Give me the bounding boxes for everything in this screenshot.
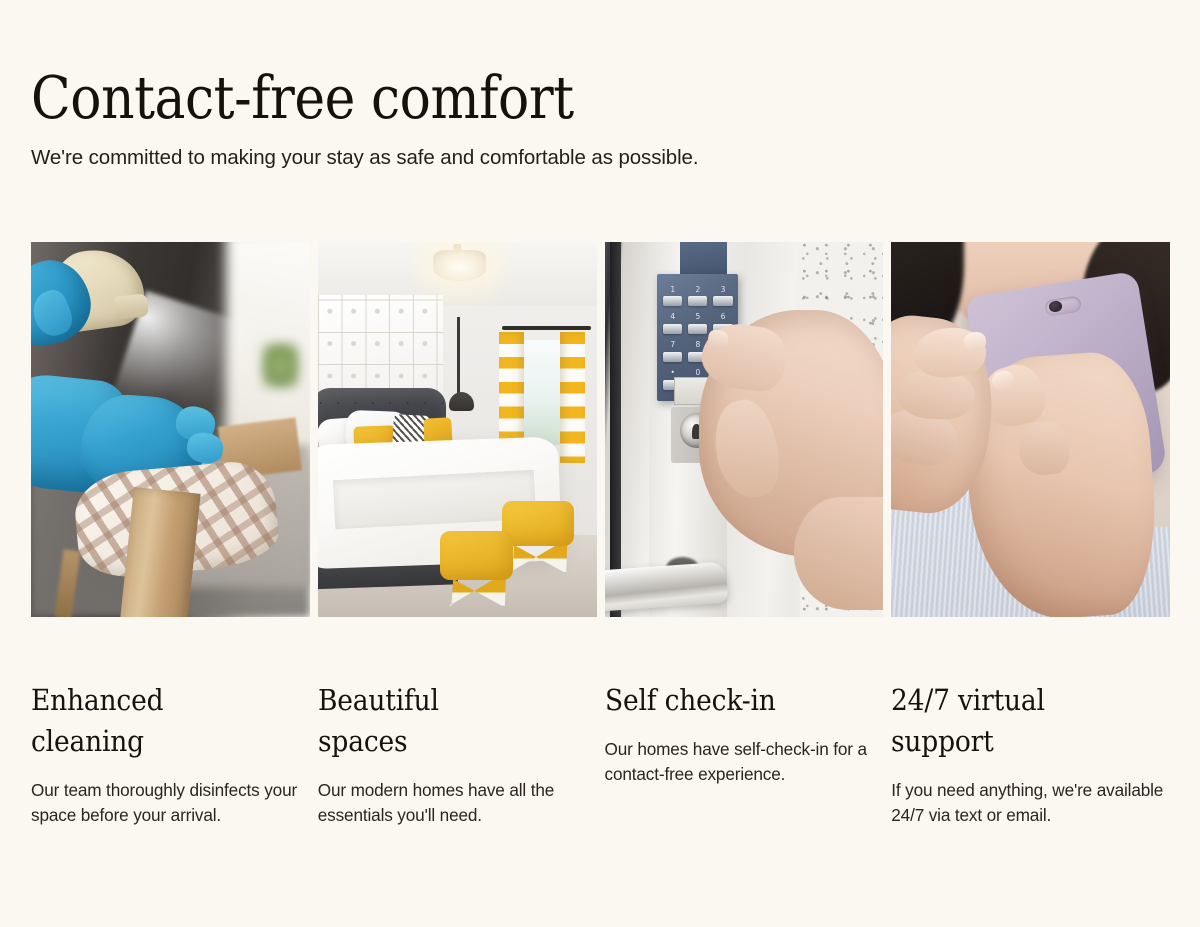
- feature-card-grid: Enhanced cleaning Our team thoroughly di…: [31, 242, 1170, 828]
- feature-card-self-check-in: 1 2 3 4: [605, 242, 884, 828]
- keypad-key-label: 8: [695, 340, 700, 349]
- keypad-key-7[interactable]: 7: [662, 340, 683, 364]
- keypad-key-button[interactable]: [713, 296, 732, 306]
- hands-using-smartphone-photo: [891, 242, 1170, 617]
- contact-free-comfort-section: Contact-free comfort We're committed to …: [0, 0, 1200, 927]
- page-title: Contact-free comfort: [31, 66, 1034, 130]
- photo-artwork: [318, 242, 597, 617]
- keypad-key-button[interactable]: [663, 324, 682, 334]
- photo-artwork: [891, 242, 1170, 617]
- keypad-key-label: 1: [670, 285, 675, 294]
- feature-card-heading: 24/7 virtual support: [891, 680, 1077, 762]
- photo-artwork: 1 2 3 4: [605, 242, 884, 617]
- photo-artwork: [31, 242, 310, 617]
- pendant-lamp-cord: [457, 317, 460, 400]
- feature-card-body: Our modern homes have all the essentials…: [318, 778, 590, 828]
- door-jamb: [610, 242, 621, 617]
- yellow-stool-1: [440, 531, 512, 580]
- bedroom-window: [521, 340, 566, 445]
- feature-card-beautiful-spaces: Beautiful spaces Our modern homes have a…: [318, 242, 597, 828]
- keypad-key-4[interactable]: 4: [662, 312, 683, 336]
- keypad-key-label: 7: [670, 340, 675, 349]
- keypad-key-label: 5: [695, 312, 700, 321]
- gloved-hands-disinfecting-furniture-photo: [31, 242, 310, 617]
- feature-card-heading: Beautiful spaces: [318, 680, 504, 762]
- page-subtitle: We're committed to making your stay as s…: [31, 144, 1171, 172]
- keypad-key-button[interactable]: [663, 296, 682, 306]
- curtain-rod: [502, 326, 591, 329]
- feature-card-virtual-support: 24/7 virtual support If you need anythin…: [891, 242, 1170, 828]
- feature-card-heading: Self check-in: [605, 680, 791, 721]
- keypad-key-button[interactable]: [688, 296, 707, 306]
- plant-blur: [262, 343, 298, 388]
- keypad-key-label: 4: [670, 312, 675, 321]
- keypad-top-bracket: [680, 242, 727, 278]
- feature-card-body: Our homes have self-check-in for a conta…: [605, 737, 877, 787]
- striped-curtain-right: [560, 332, 585, 463]
- feature-card-enhanced-cleaning: Enhanced cleaning Our team thoroughly di…: [31, 242, 310, 828]
- keypad-key-5[interactable]: 5: [687, 312, 708, 336]
- modern-bedroom-interior-photo: [318, 242, 597, 617]
- keypad-key-label: 0: [695, 368, 700, 377]
- spray-nozzle: [114, 293, 150, 319]
- pendant-lamp-shade: [449, 392, 474, 411]
- feature-card-body: If you need anything, we're available 24…: [891, 778, 1163, 828]
- section-header: Contact-free comfort We're committed to …: [31, 66, 1171, 172]
- feature-card-heading: Enhanced cleaning: [31, 680, 217, 762]
- keypad-key-button[interactable]: [688, 324, 707, 334]
- keypad-key-2[interactable]: 2: [687, 284, 708, 308]
- keypad-key-label: 2: [695, 285, 700, 294]
- feature-card-body: Our team thoroughly disinfects your spac…: [31, 778, 303, 828]
- keypad-door-lock-photo: 1 2 3 4: [605, 242, 884, 617]
- keypad-key-3[interactable]: 3: [713, 284, 734, 308]
- keypad-key-label: 3: [721, 285, 726, 294]
- keypad-key-1[interactable]: 1: [662, 284, 683, 308]
- keypad-key-label: •: [671, 368, 675, 377]
- flush-mount-ceiling-light: [433, 250, 486, 282]
- keypad-key-button[interactable]: [663, 352, 682, 362]
- keypad-key-label: 6: [721, 312, 726, 321]
